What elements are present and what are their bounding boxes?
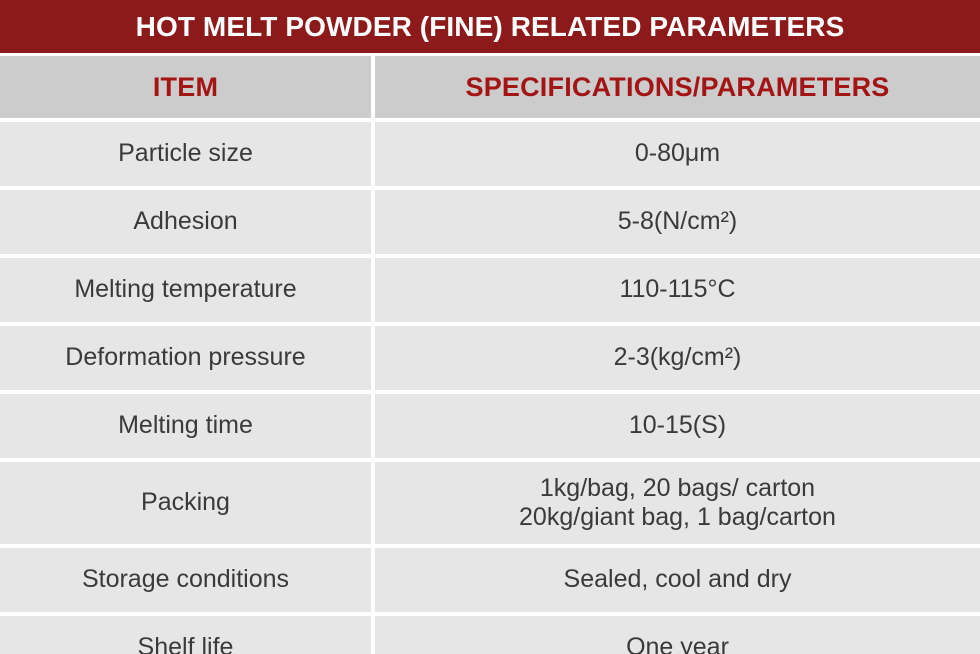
cell-spec: 5-8(N/cm²): [375, 190, 980, 254]
cell-spec: One year: [375, 616, 980, 654]
spec-value: 1kg/bag, 20 bags/ carton 20kg/giant bag,…: [519, 474, 836, 533]
table-row: Melting time 10-15(S): [0, 394, 980, 458]
table-row: Storage conditions Sealed, cool and dry: [0, 548, 980, 612]
title-band: HOT MELT POWDER (FINE) RELATED PARAMETER…: [0, 0, 980, 53]
table-row: Particle size 0-80μm: [0, 122, 980, 186]
table-row: Shelf life One year: [0, 616, 980, 654]
cell-spec: Sealed, cool and dry: [375, 548, 980, 612]
cell-item: Deformation pressure: [0, 326, 371, 390]
column-header-item-label: ITEM: [153, 74, 218, 101]
cell-item: Shelf life: [0, 616, 371, 654]
table-row: Melting temperature 110-115°C: [0, 258, 980, 322]
table-header-row: ITEM SPECIFICATIONS/PARAMETERS: [0, 56, 980, 118]
table-row: Packing 1kg/bag, 20 bags/ carton 20kg/gi…: [0, 462, 980, 544]
item-label: Packing: [141, 488, 230, 518]
cell-spec: 1kg/bag, 20 bags/ carton 20kg/giant bag,…: [375, 462, 980, 544]
item-label: Particle size: [118, 139, 253, 169]
spec-value: 5-8(N/cm²): [618, 207, 737, 237]
spec-sheet: HOT MELT POWDER (FINE) RELATED PARAMETER…: [0, 0, 980, 654]
item-label: Shelf life: [138, 633, 234, 654]
spec-value: 0-80μm: [635, 139, 720, 169]
cell-item: Melting time: [0, 394, 371, 458]
cell-item: Adhesion: [0, 190, 371, 254]
item-label: Deformation pressure: [65, 343, 305, 373]
page-title: HOT MELT POWDER (FINE) RELATED PARAMETER…: [136, 13, 845, 41]
column-header-spec-label: SPECIFICATIONS/PARAMETERS: [465, 74, 889, 101]
spec-value: 2-3(kg/cm²): [614, 343, 742, 373]
parameters-table: ITEM SPECIFICATIONS/PARAMETERS Particle …: [0, 53, 980, 654]
item-label: Adhesion: [133, 207, 237, 237]
item-label: Storage conditions: [82, 565, 289, 595]
spec-value: Sealed, cool and dry: [564, 565, 792, 595]
cell-spec: 0-80μm: [375, 122, 980, 186]
cell-spec: 2-3(kg/cm²): [375, 326, 980, 390]
table-row: Adhesion 5-8(N/cm²): [0, 190, 980, 254]
cell-item: Packing: [0, 462, 371, 544]
spec-value: One year: [626, 633, 729, 654]
spec-value: 110-115°C: [619, 275, 735, 305]
cell-spec: 110-115°C: [375, 258, 980, 322]
item-label: Melting time: [118, 411, 253, 441]
cell-item: Particle size: [0, 122, 371, 186]
cell-item: Storage conditions: [0, 548, 371, 612]
spec-value: 10-15(S): [629, 411, 726, 441]
cell-item: Melting temperature: [0, 258, 371, 322]
item-label: Melting temperature: [74, 275, 296, 305]
column-header-item: ITEM: [0, 56, 371, 118]
cell-spec: 10-15(S): [375, 394, 980, 458]
table-row: Deformation pressure 2-3(kg/cm²): [0, 326, 980, 390]
column-header-spec: SPECIFICATIONS/PARAMETERS: [375, 56, 980, 118]
